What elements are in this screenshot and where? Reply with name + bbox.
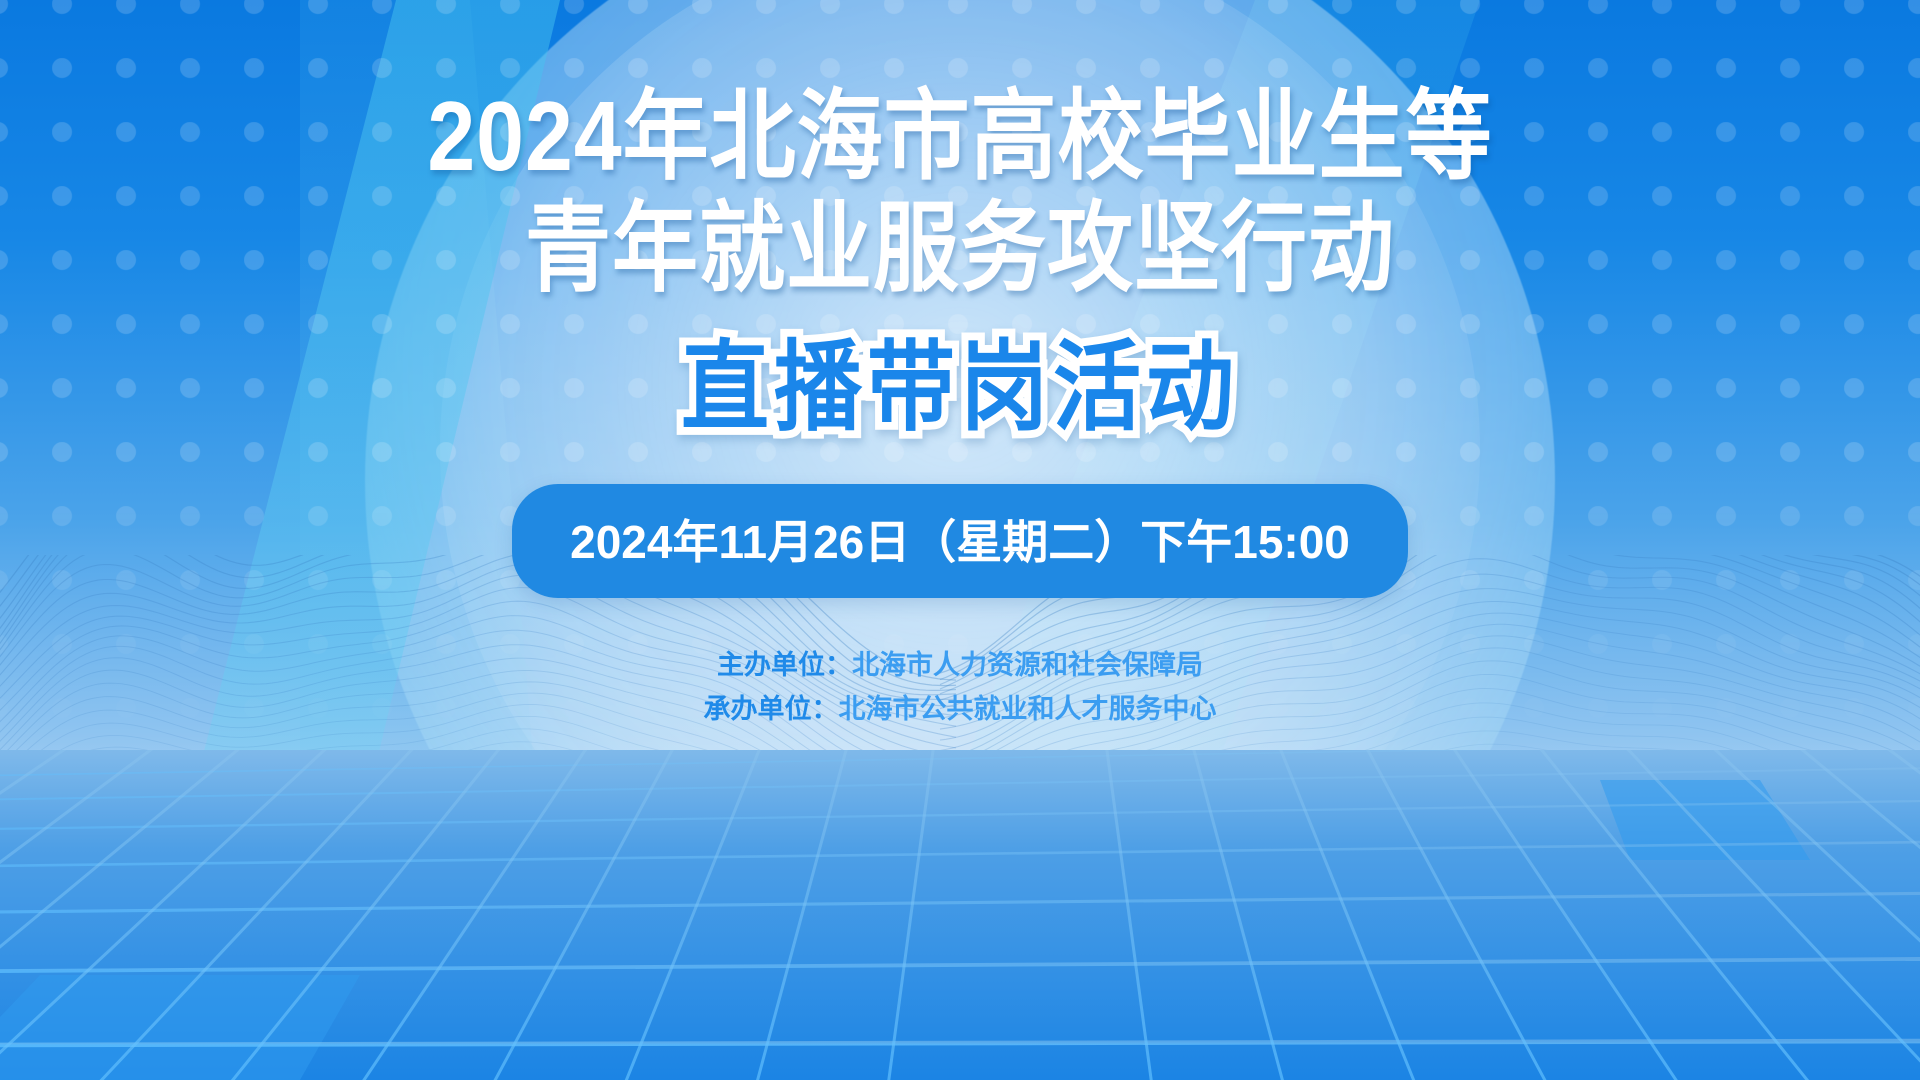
title-block: 2024年北海市高校毕业生等 青年就业服务攻坚行动 (427, 88, 1492, 304)
title-line-2: 青年就业服务攻坚行动 (427, 200, 1492, 298)
organizer-block: 主办单位：北海市人力资源和社会保障局 承办单位：北海市公共就业和人才服务中心 (704, 644, 1217, 731)
banner-content: 2024年北海市高校毕业生等 青年就业服务攻坚行动 直播带岗活动 2024年11… (0, 0, 1920, 1080)
organizer-label: 主办单位： (717, 650, 852, 680)
organizer-line: 主办单位：北海市人力资源和社会保障局 (704, 644, 1217, 688)
organizer-value: 北海市人力资源和社会保障局 (852, 650, 1203, 680)
headline-text: 直播带岗活动 (681, 338, 1239, 437)
title-line-1: 2024年北海市高校毕业生等 (427, 88, 1492, 186)
organizer-value: 北海市公共就业和人才服务中心 (839, 694, 1217, 724)
date-time-pill: 2024年11月26日（星期二）下午15:00 (512, 484, 1408, 598)
promo-banner: 2024年北海市高校毕业生等 青年就业服务攻坚行动 直播带岗活动 2024年11… (0, 0, 1920, 1080)
organizer-line: 承办单位：北海市公共就业和人才服务中心 (704, 688, 1217, 732)
organizer-label: 承办单位： (704, 694, 839, 724)
